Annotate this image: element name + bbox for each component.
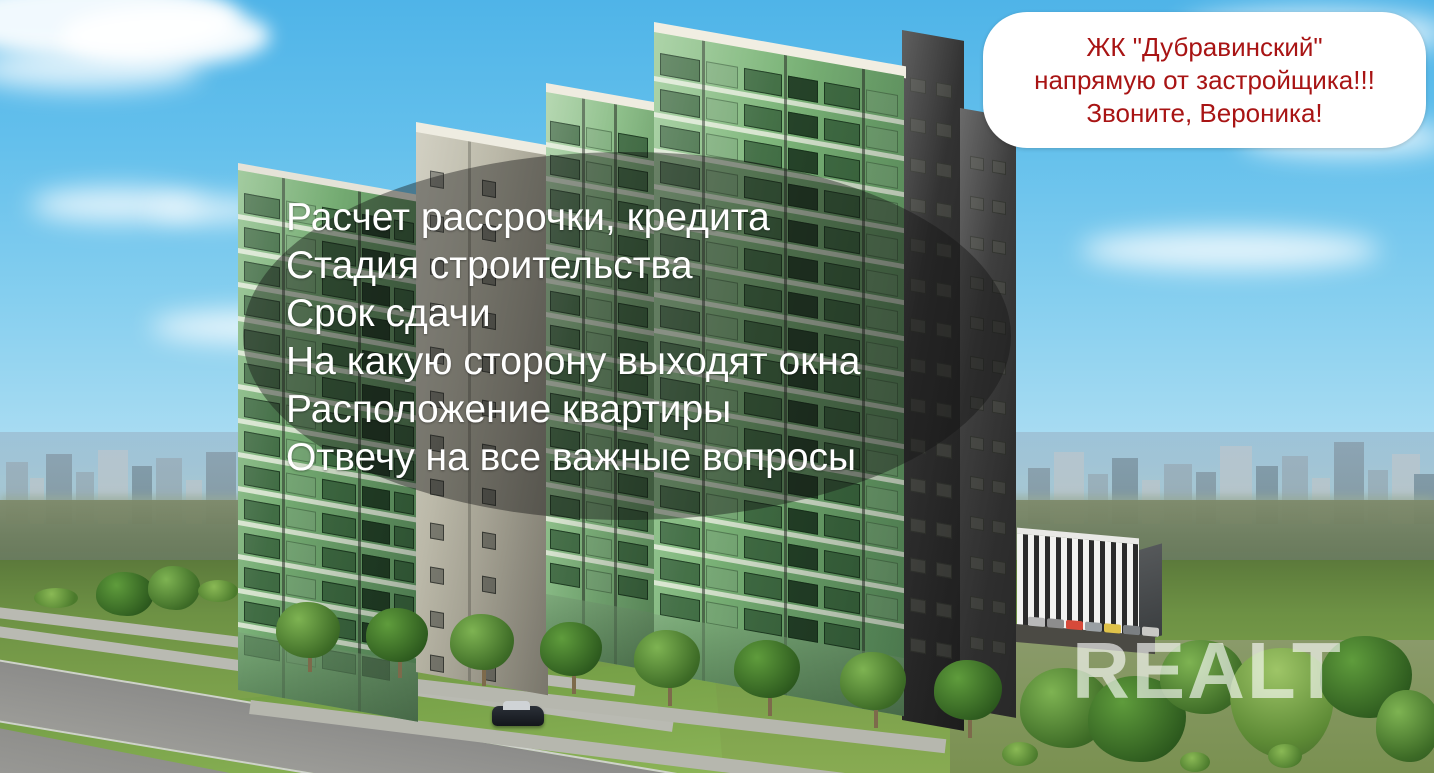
tree bbox=[734, 640, 800, 698]
shrub bbox=[1268, 744, 1302, 768]
overlay-line-4: На какую сторону выходят окна bbox=[286, 338, 1006, 386]
tree bbox=[540, 622, 602, 676]
realt-watermark: REALT bbox=[1072, 629, 1343, 713]
callout-line-3: Звоните, Вероника! bbox=[1086, 97, 1322, 130]
overlay-line-3: Срок сдачи bbox=[286, 290, 1006, 338]
callout-line-1: ЖК "Дубравинский" bbox=[1086, 31, 1322, 64]
overlay-line-6: Отвечу на все важные вопросы bbox=[286, 434, 1006, 482]
tree bbox=[1376, 690, 1434, 762]
overlay-line-5: Расположение квартиры bbox=[286, 386, 1006, 434]
overlay-line-1: Расчет рассрочки, кредита bbox=[286, 194, 1006, 242]
cloud bbox=[1080, 230, 1380, 270]
tree bbox=[934, 660, 1002, 720]
shrub bbox=[1180, 752, 1210, 772]
shrub bbox=[1002, 742, 1038, 766]
tree bbox=[840, 652, 906, 710]
shrub bbox=[198, 580, 238, 602]
car bbox=[492, 706, 544, 726]
advertisement-image: Расчет рассрочки, кредита Стадия строите… bbox=[0, 0, 1434, 773]
tree bbox=[634, 630, 700, 688]
tree bbox=[450, 614, 514, 670]
tree bbox=[148, 566, 200, 610]
overlay-line-2: Стадия строительства bbox=[286, 242, 1006, 290]
tree bbox=[96, 572, 154, 616]
tree bbox=[276, 602, 340, 658]
callout-bubble: ЖК "Дубравинский" напрямую от застройщик… bbox=[983, 12, 1426, 148]
tree bbox=[366, 608, 428, 662]
shrub bbox=[34, 588, 78, 608]
overlay-text-block: Расчет рассрочки, кредита Стадия строите… bbox=[286, 194, 1006, 482]
callout-line-2: напрямую от застройщика!!! bbox=[1034, 64, 1375, 97]
